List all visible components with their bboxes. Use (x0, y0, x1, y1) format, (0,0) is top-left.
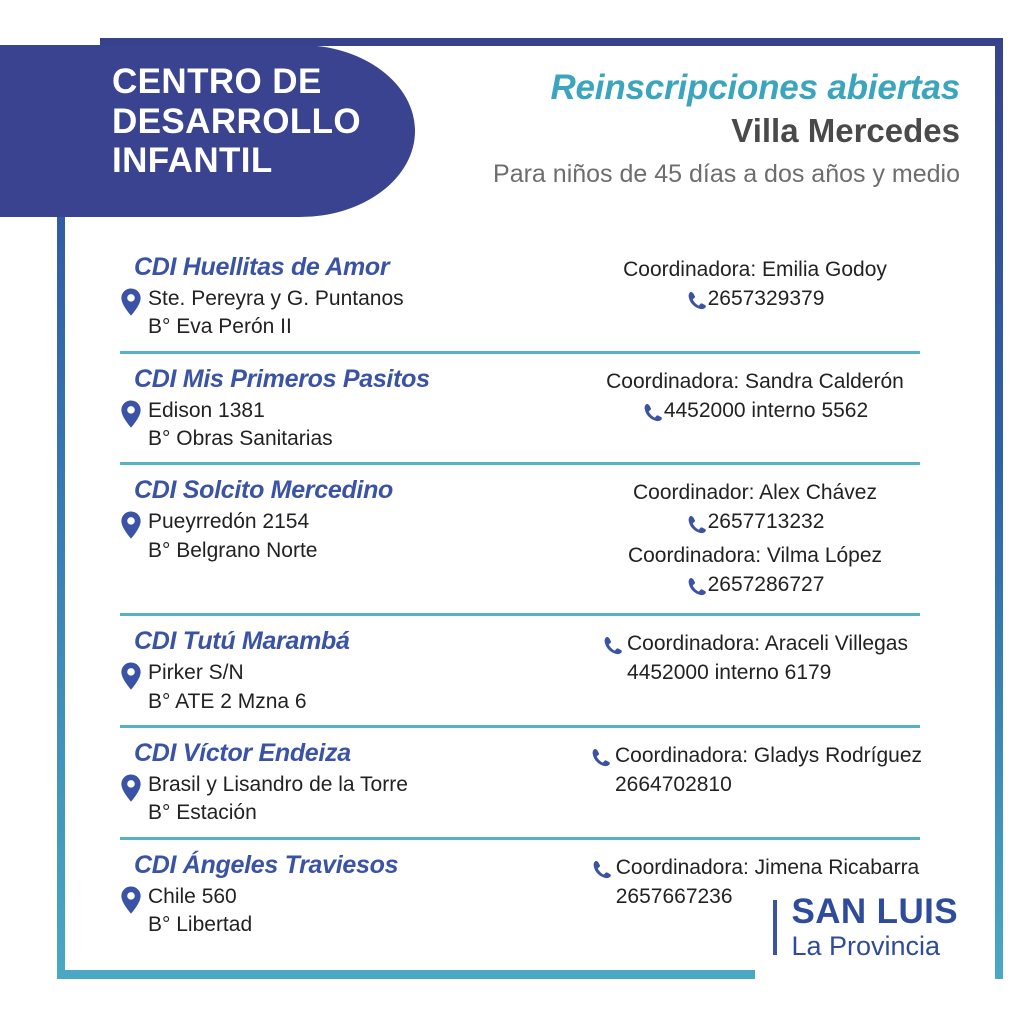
cdi-street: Chile 560 (148, 883, 252, 911)
cdi-address: Pirker S/NB° ATE 2 Mzna 6 (148, 659, 307, 716)
headline-reinscripciones: Reinscripciones abiertas (430, 68, 960, 108)
headline-city: Villa Mercedes (430, 110, 960, 151)
cdi-neighborhood: B° Belgrano Norte (148, 537, 318, 565)
cdi-address: Pueyrredón 2154B° Belgrano Norte (148, 508, 318, 565)
san-luis-logo: SAN LUIS La Provincia (773, 894, 958, 962)
cdi-entry-contacts: Coordinadora: Araceli Villegas4452000 in… (590, 626, 920, 688)
cdi-entry: CDI Víctor EndeizaBrasil y Lisandro de l… (120, 738, 920, 840)
cdi-name: CDI Huellitas de Amor (134, 252, 590, 282)
cdi-street: Ste. Pereyra y G. Puntanos (148, 285, 404, 313)
cdi-entry-left: CDI Ángeles TraviesosChile 560B° Liberta… (120, 850, 590, 940)
location-pin-icon (120, 662, 142, 690)
phone-icon (602, 635, 622, 655)
coordinator-name: Coordinadora: Emilia Godoy (590, 256, 920, 285)
contact-block: Coordinadora: Araceli Villegas4452000 in… (590, 630, 920, 688)
coordinator-phone[interactable]: 4452000 interno 6179 (627, 659, 908, 688)
coordinator-phone[interactable]: 2657286727 (686, 571, 825, 600)
cdi-neighborhood: B° Estación (148, 799, 408, 827)
headline-subtitle: Para niños de 45 días a dos años y medio (430, 158, 960, 191)
contact-block: Coordinador: Alex Chávez2657713232 (590, 479, 920, 541)
phone-icon (591, 859, 611, 879)
frame-right-border (995, 38, 1003, 979)
coordinator-name: Coordinadora: Gladys Rodríguez (615, 742, 922, 771)
coordinator-phone[interactable]: 2657713232 (686, 508, 825, 537)
coordinator-name: Coordinadora: Araceli Villegas (627, 630, 908, 659)
cdi-street: Edison 1381 (148, 397, 333, 425)
logo-divider-bar (773, 900, 777, 955)
cdi-entry-contacts: Coordinadora: Emilia Godoy2657329379 (590, 252, 920, 318)
cdi-name: CDI Víctor Endeiza (134, 738, 590, 768)
coordinator-phone[interactable]: 4452000 interno 5562 (642, 397, 868, 426)
frame-bottom-border (57, 970, 755, 979)
cdi-neighborhood: B° ATE 2 Mzna 6 (148, 688, 307, 716)
cdi-entry: CDI Huellitas de AmorSte. Pereyra y G. P… (120, 252, 920, 354)
cdi-entry-contacts: Coordinador: Alex Chávez2657713232Coordi… (590, 475, 920, 604)
contact-block: Coordinadora: Gladys Rodríguez2664702810 (590, 742, 922, 800)
cdi-name: CDI Tutú Marambá (134, 626, 590, 656)
coordinator-name: Coordinadora: Vilma López (590, 542, 920, 571)
cdi-address: Ste. Pereyra y G. PuntanosB° Eva Perón I… (148, 285, 404, 342)
location-pin-icon (120, 886, 142, 914)
cdi-address: Edison 1381B° Obras Sanitarias (148, 397, 333, 454)
logo-main-text: SAN LUIS (791, 894, 958, 929)
poster-canvas: CENTRO DE DESARROLLO INFANTIL Reinscripc… (0, 0, 1024, 1024)
cdi-street: Pueyrredón 2154 (148, 508, 318, 536)
logo-sub-text: La Provincia (791, 931, 958, 962)
cdi-entry-contacts: Coordinadora: Gladys Rodríguez2664702810 (590, 738, 922, 800)
cdi-entry-contacts: Coordinadora: Sandra Calderón4452000 int… (590, 364, 920, 430)
location-pin-icon (120, 511, 142, 539)
location-pin-icon (120, 288, 142, 316)
contact-block: Coordinadora: Sandra Calderón4452000 int… (590, 368, 920, 430)
frame-left-border (57, 210, 65, 979)
cdi-list: CDI Huellitas de AmorSte. Pereyra y G. P… (120, 252, 920, 958)
cdi-neighborhood: B° Obras Sanitarias (148, 425, 333, 453)
phone-icon (590, 747, 610, 767)
cdi-name: CDI Mis Primeros Pasitos (134, 364, 590, 394)
cdi-name: CDI Ángeles Traviesos (134, 850, 590, 880)
coordinator-name: Coordinadora: Sandra Calderón (590, 368, 920, 397)
cdi-address: Brasil y Lisandro de la TorreB° Estación (148, 771, 408, 828)
phone-icon (686, 576, 706, 596)
contact-block: Coordinadora: Vilma López2657286727 (590, 542, 920, 604)
phone-icon (686, 514, 706, 534)
cdi-entry-left: CDI Tutú MarambáPirker S/NB° ATE 2 Mzna … (120, 626, 590, 716)
cdi-name: CDI Solcito Mercedino (134, 475, 590, 505)
cdi-address: Chile 560B° Libertad (148, 883, 252, 940)
cdi-entry-left: CDI Solcito MercedinoPueyrredón 2154B° B… (120, 475, 590, 565)
banner-title: CENTRO DE DESARROLLO INFANTIL (112, 62, 412, 181)
header-text-block: Reinscripciones abiertas Villa Mercedes … (430, 68, 960, 190)
coordinator-phone[interactable]: 2664702810 (615, 771, 922, 800)
cdi-neighborhood: B° Libertad (148, 911, 252, 939)
cdi-street: Brasil y Lisandro de la Torre (148, 771, 408, 799)
phone-icon (642, 402, 662, 422)
cdi-entry-left: CDI Huellitas de AmorSte. Pereyra y G. P… (120, 252, 590, 342)
cdi-entry: CDI Mis Primeros PasitosEdison 1381B° Ob… (120, 364, 920, 466)
coordinator-phone[interactable]: 2657329379 (686, 285, 825, 314)
phone-icon (686, 290, 706, 310)
cdi-neighborhood: B° Eva Perón II (148, 313, 404, 341)
location-pin-icon (120, 774, 142, 802)
cdi-entry-left: CDI Víctor EndeizaBrasil y Lisandro de l… (120, 738, 590, 828)
cdi-street: Pirker S/N (148, 659, 307, 687)
coordinator-name: Coordinador: Alex Chávez (590, 479, 920, 508)
cdi-entry-left: CDI Mis Primeros PasitosEdison 1381B° Ob… (120, 364, 590, 454)
coordinator-name: Coordinadora: Jimena Ricabarra (616, 854, 920, 883)
location-pin-icon (120, 400, 142, 428)
cdi-entry: CDI Tutú MarambáPirker S/NB° ATE 2 Mzna … (120, 626, 920, 728)
contact-block: Coordinadora: Emilia Godoy2657329379 (590, 256, 920, 318)
cdi-entry: CDI Solcito MercedinoPueyrredón 2154B° B… (120, 475, 920, 616)
